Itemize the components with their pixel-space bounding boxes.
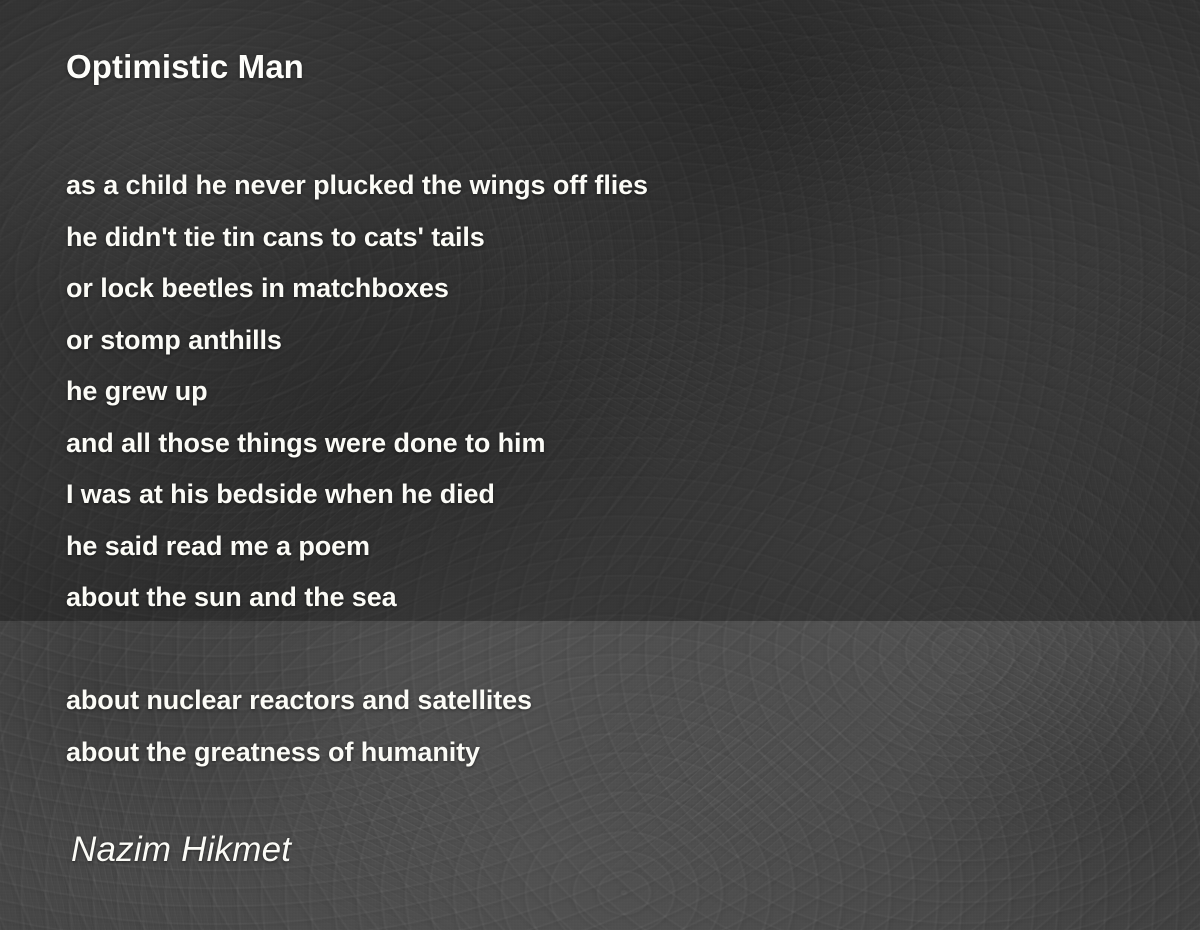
poem-line: I was at his bedside when he died — [66, 469, 1126, 521]
poem-line: about the greatness of humanity — [66, 727, 1126, 779]
poem-line: as a child he never plucked the wings of… — [66, 160, 1126, 212]
poem-line-blank — [66, 624, 1126, 676]
poem-title: Optimistic Man — [66, 48, 304, 86]
poem-line: about nuclear reactors and satellites — [66, 675, 1126, 727]
poem-line: he grew up — [66, 366, 1126, 418]
poem-line: or stomp anthills — [66, 315, 1126, 367]
poem-line: and all those things were done to him — [66, 418, 1126, 470]
poem-content: Optimistic Man as a child he never pluck… — [0, 0, 1200, 930]
poem-body: as a child he never plucked the wings of… — [66, 160, 1126, 778]
poem-author: Nazim Hikmet — [71, 830, 291, 870]
poem-image: Optimistic Man as a child he never pluck… — [0, 0, 1200, 930]
poem-line: he didn't tie tin cans to cats' tails — [66, 212, 1126, 264]
poem-line: he said read me a poem — [66, 521, 1126, 573]
poem-line: about the sun and the sea — [66, 572, 1126, 624]
poem-line: or lock beetles in matchboxes — [66, 263, 1126, 315]
